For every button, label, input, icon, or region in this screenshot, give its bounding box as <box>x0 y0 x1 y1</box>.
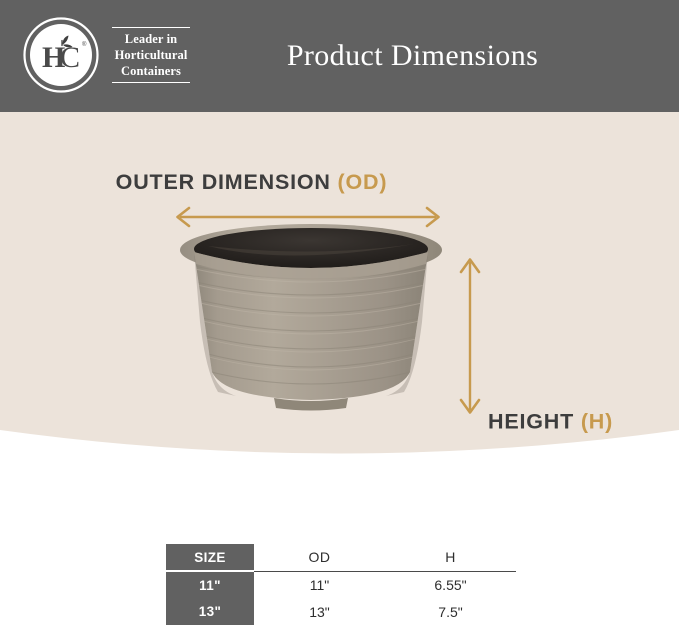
cell-od: 13" <box>254 598 385 625</box>
outer-dimension-abbr: (OD) <box>338 170 388 194</box>
height-abbr: (H) <box>581 410 613 434</box>
cell-od: 11" <box>254 571 385 598</box>
column-header-size: SIZE <box>166 544 254 571</box>
column-header-od: OD <box>254 544 385 571</box>
table-header-row: SIZE OD H <box>166 544 516 571</box>
planter-pot-image <box>178 222 444 420</box>
cell-h: 7.5" <box>385 598 516 625</box>
header-band: H C ® Leader in Horticultural Containers… <box>0 0 679 112</box>
table-row: 11" 11" 6.55" <box>166 571 516 598</box>
specification-table: SIZE OD H 11" 11" 6.55" 13" 13" 7.5" <box>166 544 516 625</box>
product-dimensions-infographic: H C ® Leader in Horticultural Containers… <box>0 0 679 636</box>
diagram-stage: OUTER DIMENSION (OD) <box>0 112 679 467</box>
cell-h: 6.55" <box>385 571 516 598</box>
outer-dimension-label: OUTER DIMENSION (OD) <box>0 170 679 195</box>
cell-size: 13" <box>166 598 254 625</box>
vertical-double-arrow <box>456 254 484 423</box>
height-label: HEIGHT (H) <box>488 410 613 435</box>
column-header-h: H <box>385 544 516 571</box>
cell-size: 11" <box>166 571 254 598</box>
height-text: HEIGHT <box>488 410 574 434</box>
table-row: 13" 13" 7.5" <box>166 598 516 625</box>
page-title: Product Dimensions <box>0 0 679 112</box>
outer-dimension-text: OUTER DIMENSION <box>116 170 331 194</box>
